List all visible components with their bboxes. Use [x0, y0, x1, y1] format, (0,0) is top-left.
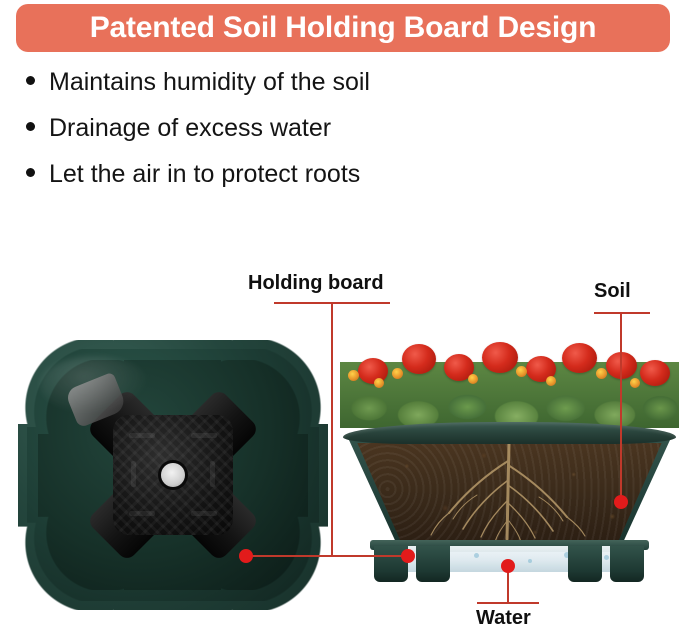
callout-dot-water [501, 559, 515, 573]
page-title: Patented Soil Holding Board Design [90, 13, 597, 43]
chrysanthemum-bloom [640, 360, 670, 386]
surface-highlight [40, 356, 150, 414]
bullet-dot-icon [26, 168, 35, 177]
list-item: Drainage of excess water [26, 116, 546, 162]
chrysanthemum-bloom [402, 344, 436, 374]
header-banner: Patented Soil Holding Board Design [16, 4, 670, 52]
flower-bud [516, 366, 527, 377]
board-vent-slot [210, 461, 215, 487]
flower-bud [630, 378, 640, 388]
flower-cluster [340, 330, 679, 428]
list-item: Let the air in to protect roots [26, 162, 546, 208]
bullet-dot-icon [26, 122, 35, 131]
callout-dot-soil [614, 495, 628, 509]
chrysanthemum-bloom [482, 342, 518, 373]
soil-holding-board-top-view-image [18, 340, 328, 610]
planter-cross-section-image [340, 330, 679, 592]
leader-line-soil-bar [594, 312, 650, 314]
flower-bud [596, 368, 607, 379]
callout-label-holding-board: Holding board [248, 273, 384, 293]
leader-line-soil-stem [620, 312, 622, 502]
board-vent-slot [191, 433, 217, 438]
flower-bud [348, 370, 359, 381]
feature-text: Let the air in to protect roots [49, 162, 360, 187]
board-vent-slot [131, 461, 136, 487]
feature-text: Maintains humidity of the soil [49, 70, 370, 95]
board-vent-slot [129, 511, 155, 516]
water-sparkle [528, 559, 532, 563]
board-vent-slot [129, 433, 155, 438]
chrysanthemum-bloom [562, 343, 597, 373]
water-sparkle [474, 553, 479, 558]
planter-foot [610, 546, 644, 582]
list-item: Maintains humidity of the soil [26, 70, 546, 116]
bullet-dot-icon [26, 76, 35, 85]
leader-line-holding-board-stem [331, 302, 333, 556]
water-sparkle [604, 555, 609, 560]
planter-foot [416, 546, 450, 582]
board-vent-slot [191, 511, 217, 516]
callout-dot-holding-board-right [401, 549, 415, 563]
callout-label-soil: Soil [594, 281, 631, 301]
center-drainage-hole [161, 463, 185, 487]
leader-line-holding-board-run [246, 555, 409, 557]
flower-bud [468, 374, 478, 384]
callout-dot-holding-board-left [239, 549, 253, 563]
callout-label-water: Water [476, 608, 531, 628]
planter-foot [568, 546, 602, 582]
feature-list: Maintains humidity of the soil Drainage … [26, 70, 546, 208]
feature-text: Drainage of excess water [49, 116, 331, 141]
flower-bud [546, 376, 556, 386]
planter-rim [343, 422, 676, 444]
flower-bud [392, 368, 403, 379]
flower-bud [374, 378, 384, 388]
